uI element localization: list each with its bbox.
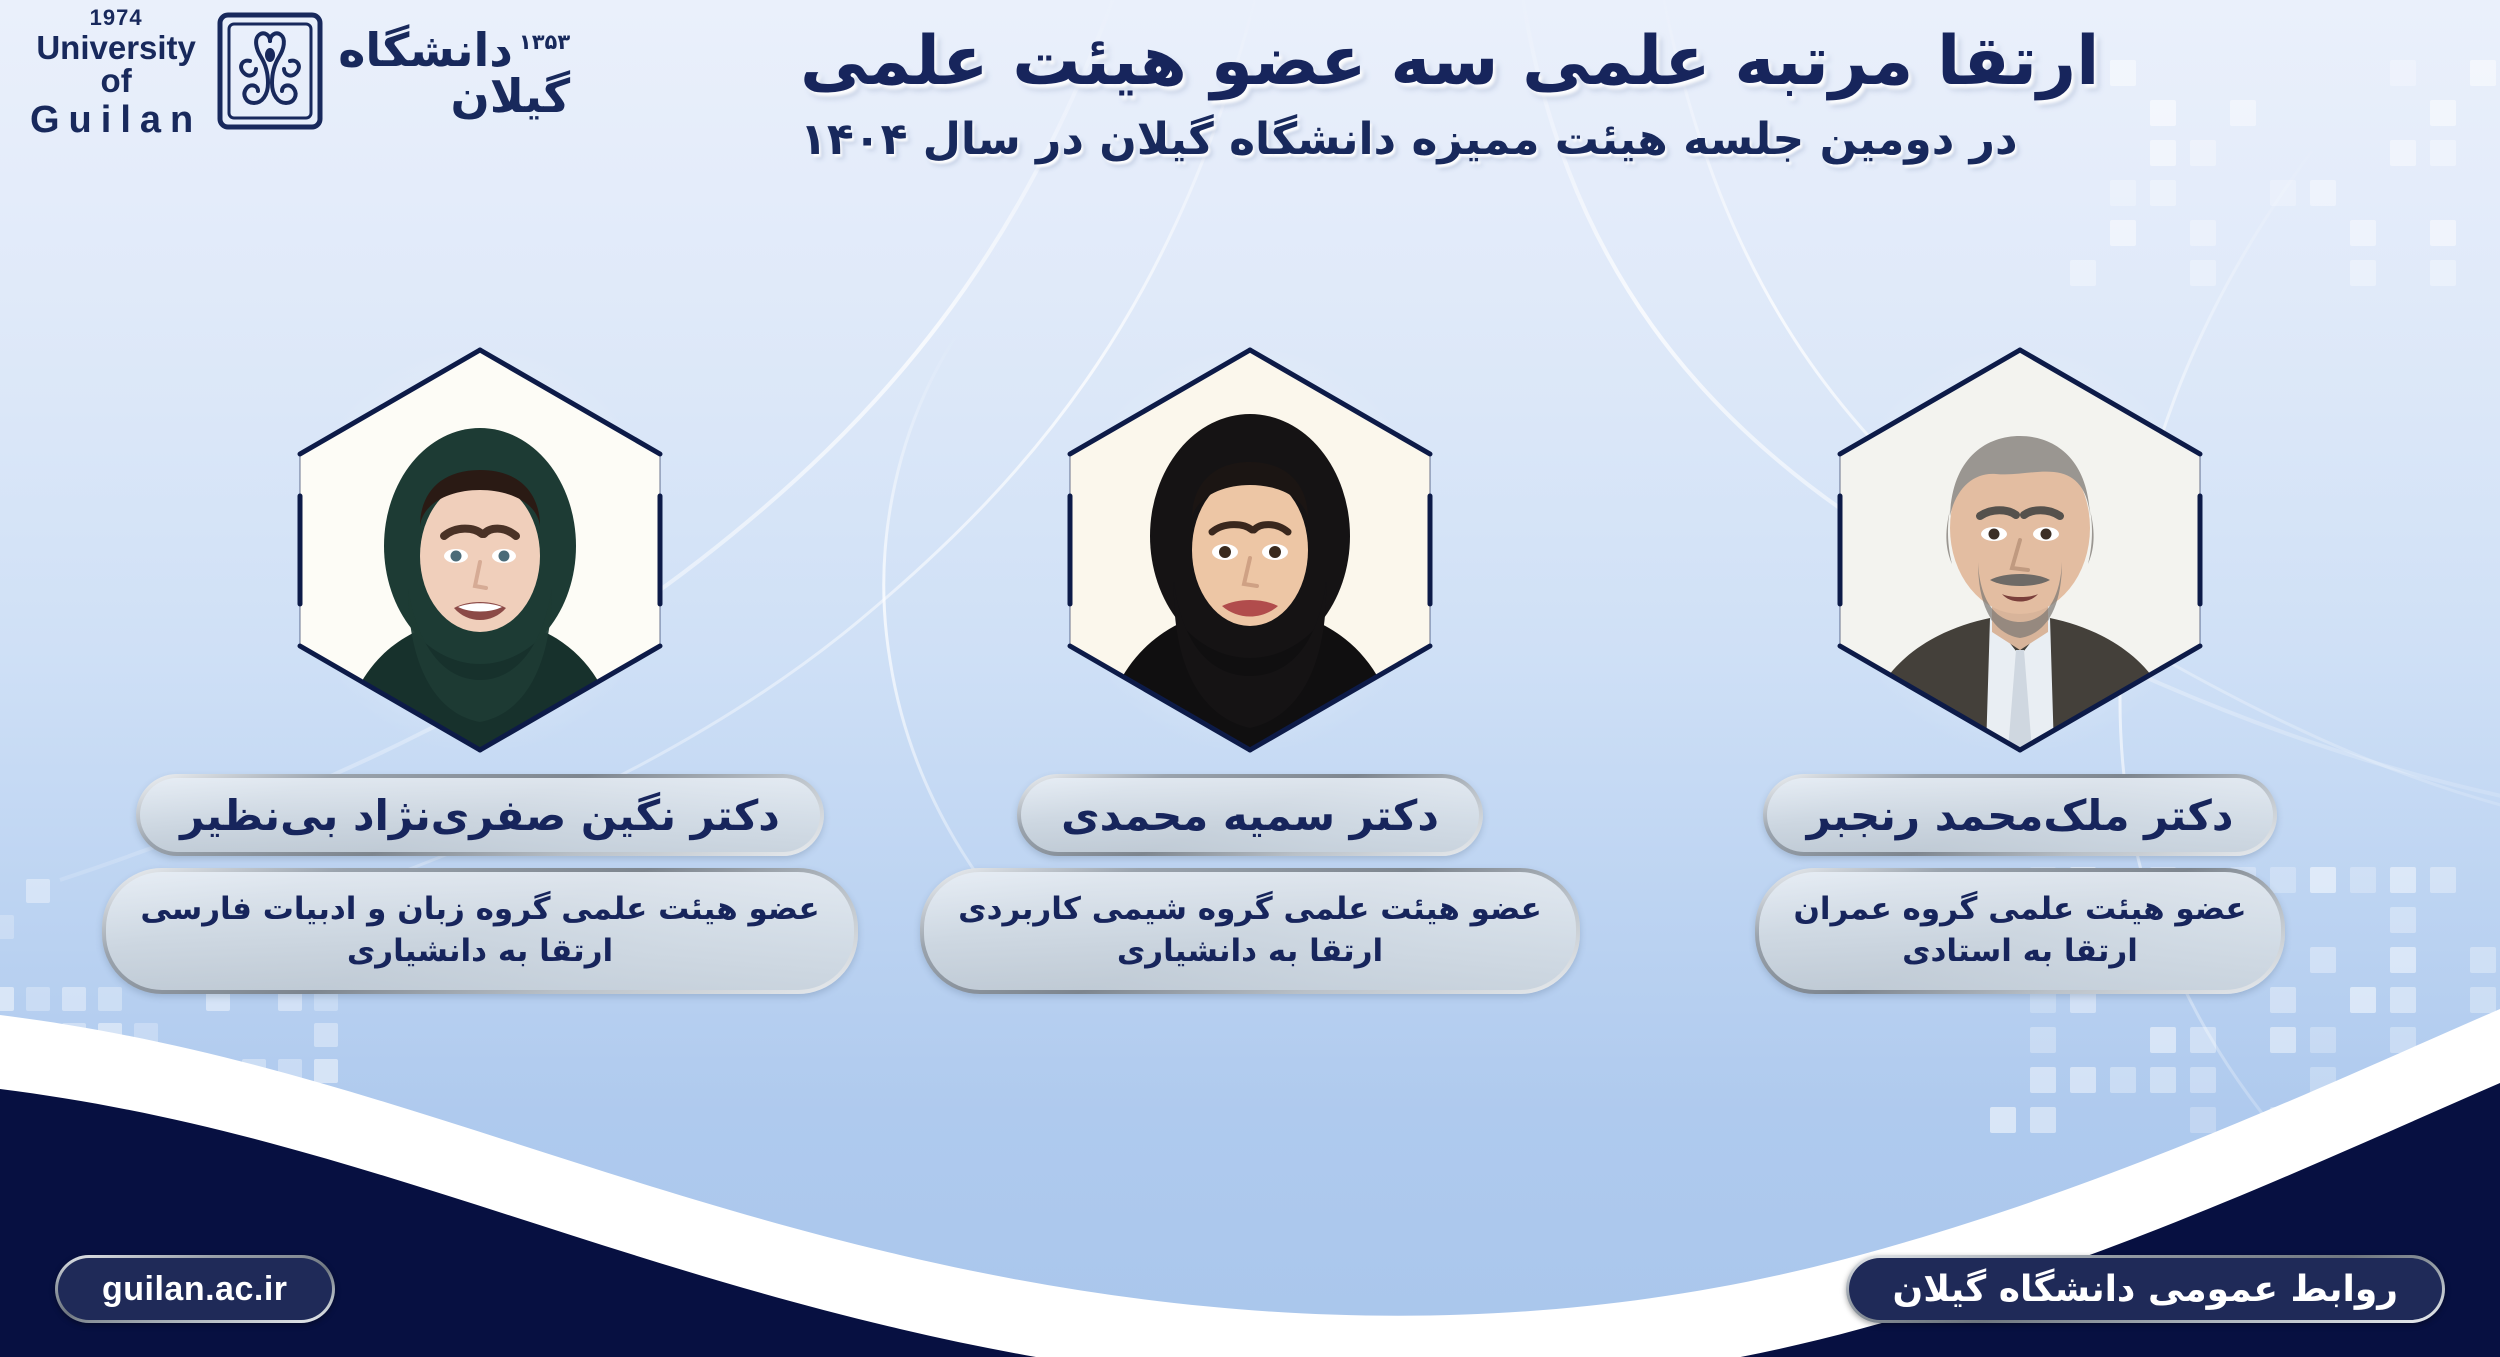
logo-university-word: University of: [30, 31, 202, 97]
avatar: [1840, 350, 2200, 750]
faculty-name: دکتر ملک‌محمد رنجبر: [1807, 791, 2234, 840]
faculty-affiliation: عضو هیئت علمی گروه شیمی کاربردی: [958, 889, 1542, 931]
logo-persian-text: ۱۳۵۳دانشگاه گیلان: [338, 27, 570, 119]
avatar: [1070, 350, 1430, 750]
logo-founding-year-fa: ۱۳۵۳: [519, 30, 570, 54]
faculty-name-pill: دکتر ملک‌محمد رنجبر: [1763, 774, 2278, 856]
hexagon-frame-icon: [1836, 346, 2204, 754]
guilan-emblem-icon: [216, 11, 324, 135]
website-url-text: guilan.ac.ir: [102, 1270, 288, 1309]
avatar: [300, 350, 660, 750]
university-logo: 1974 University of Guilan ۱۳۵۳دانشگاه گی…: [30, 10, 500, 135]
page-title: ارتقا مرتبه علمی سه عضو هیئت علمی: [800, 22, 2440, 102]
faculty-name-pill: دکتر نگین صفری‌نژاد بی‌نظیر: [136, 774, 824, 856]
hexagon-frame-icon: [296, 346, 664, 754]
faculty-card: دکتر نگین صفری‌نژاد بی‌نظیر عضو هیئت علم…: [160, 350, 800, 994]
faculty-card: دکتر ملک‌محمد رنجبر عضو هیئت علمی گروه ع…: [1700, 350, 2340, 994]
logo-english-text: 1974 University of Guilan: [30, 7, 202, 139]
faculty-affiliation: عضو هیئت علمی گروه زبان و ادبیات فارسی: [140, 889, 819, 931]
logo-guilan-word: Guilan: [30, 101, 202, 139]
faculty-name: دکتر نگین صفری‌نژاد بی‌نظیر: [180, 791, 780, 840]
title-block: ارتقا مرتبه علمی سه عضو هیئت علمی در دوم…: [800, 22, 2440, 167]
faculty-name-pill: دکتر سمیه محمدی: [1017, 774, 1483, 856]
faculty-card: دکتر سمیه محمدی عضو هیئت علمی گروه شیمی …: [930, 350, 1570, 994]
hexagon-frame-icon: [1066, 346, 1434, 754]
logo-founding-year-en: 1974: [30, 7, 202, 29]
website-url-badge[interactable]: guilan.ac.ir: [55, 1255, 335, 1323]
public-relations-text: روابط عمومی دانشگاه گیلان: [1893, 1269, 2398, 1310]
public-relations-badge[interactable]: روابط عمومی دانشگاه گیلان: [1846, 1255, 2445, 1323]
page-subtitle: در دومین جلسه هیئت ممیزه دانشگاه گیلان د…: [800, 114, 2440, 167]
poster-canvas: 1974 University of Guilan ۱۳۵۳دانشگاه گی…: [0, 0, 2500, 1357]
faculty-affiliation: عضو هیئت علمی گروه عمران: [1793, 889, 2246, 931]
faculty-name: دکتر سمیه محمدی: [1061, 791, 1439, 840]
